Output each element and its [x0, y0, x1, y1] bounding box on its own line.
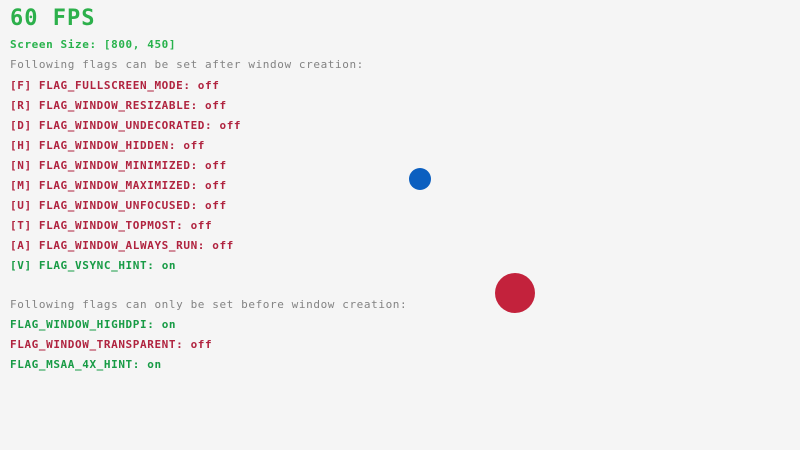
- flag-value: off: [191, 338, 213, 351]
- flag-key-prefix: [N]: [10, 159, 39, 172]
- flag-key-prefix: [U]: [10, 199, 39, 212]
- flag-value: off: [191, 219, 213, 232]
- after-creation-heading: Following flags can be set after window …: [10, 59, 364, 70]
- flag-name: FLAG_WINDOW_TRANSPARENT:: [10, 338, 191, 351]
- flag-value: on: [162, 259, 176, 272]
- flag-key-prefix: [M]: [10, 179, 39, 192]
- startup-flag-row[interactable]: FLAG_WINDOW_TRANSPARENT: off: [10, 339, 212, 350]
- flag-key-prefix: [T]: [10, 219, 39, 232]
- flag-value: on: [147, 358, 161, 371]
- flag-name: FLAG_WINDOW_ALWAYS_RUN:: [39, 239, 212, 252]
- flag-value: off: [198, 79, 220, 92]
- runtime-flag-row[interactable]: [T] FLAG_WINDOW_TOPMOST: off: [10, 220, 212, 231]
- flag-name: FLAG_WINDOW_UNDECORATED:: [39, 119, 220, 132]
- flag-name: FLAG_FULLSCREEN_MODE:: [39, 79, 198, 92]
- runtime-flag-row[interactable]: [U] FLAG_WINDOW_UNFOCUSED: off: [10, 200, 227, 211]
- runtime-flag-row[interactable]: [A] FLAG_WINDOW_ALWAYS_RUN: off: [10, 240, 234, 251]
- flag-name: FLAG_WINDOW_HIDDEN:: [39, 139, 183, 152]
- flag-key-prefix: [R]: [10, 99, 39, 112]
- flag-value: on: [162, 318, 176, 331]
- flag-value: off: [212, 239, 234, 252]
- flag-name: FLAG_MSAA_4X_HINT:: [10, 358, 147, 371]
- flag-value: off: [205, 99, 227, 112]
- runtime-flag-row[interactable]: [D] FLAG_WINDOW_UNDECORATED: off: [10, 120, 241, 131]
- runtime-flag-row[interactable]: [N] FLAG_WINDOW_MINIMIZED: off: [10, 160, 227, 171]
- flag-value: off: [205, 179, 227, 192]
- screen-size-label: Screen Size: [800, 450]: [10, 39, 176, 50]
- flag-value: off: [183, 139, 205, 152]
- flag-name: FLAG_WINDOW_MAXIMIZED:: [39, 179, 205, 192]
- flag-value: off: [219, 119, 241, 132]
- flag-name: FLAG_WINDOW_MINIMIZED:: [39, 159, 205, 172]
- flag-name: FLAG_WINDOW_UNFOCUSED:: [39, 199, 205, 212]
- flag-key-prefix: [D]: [10, 119, 39, 132]
- flag-name: FLAG_WINDOW_RESIZABLE:: [39, 99, 205, 112]
- flag-name: FLAG_VSYNC_HINT:: [39, 259, 162, 272]
- startup-flag-row[interactable]: FLAG_WINDOW_HIGHDPI: on: [10, 319, 176, 330]
- flag-key-prefix: [V]: [10, 259, 39, 272]
- fps-counter: 60 FPS: [10, 8, 95, 30]
- raylib-window-canvas: 60 FPS Screen Size: [800, 450] Following…: [0, 0, 800, 450]
- overlay-text-layer: 60 FPS Screen Size: [800, 450] Following…: [0, 0, 800, 450]
- runtime-flag-row[interactable]: [R] FLAG_WINDOW_RESIZABLE: off: [10, 100, 227, 111]
- flag-name: FLAG_WINDOW_HIGHDPI:: [10, 318, 162, 331]
- runtime-flag-row[interactable]: [M] FLAG_WINDOW_MAXIMIZED: off: [10, 180, 227, 191]
- runtime-flag-row[interactable]: [F] FLAG_FULLSCREEN_MODE: off: [10, 80, 219, 91]
- startup-flag-row[interactable]: FLAG_MSAA_4X_HINT: on: [10, 359, 162, 370]
- flag-value: off: [205, 199, 227, 212]
- flag-name: FLAG_WINDOW_TOPMOST:: [39, 219, 191, 232]
- flag-key-prefix: [F]: [10, 79, 39, 92]
- flag-value: off: [205, 159, 227, 172]
- flag-key-prefix: [A]: [10, 239, 39, 252]
- runtime-flag-row[interactable]: [V] FLAG_VSYNC_HINT: on: [10, 260, 176, 271]
- runtime-flag-row[interactable]: [H] FLAG_WINDOW_HIDDEN: off: [10, 140, 205, 151]
- before-creation-heading: Following flags can only be set before w…: [10, 299, 407, 310]
- flag-key-prefix: [H]: [10, 139, 39, 152]
